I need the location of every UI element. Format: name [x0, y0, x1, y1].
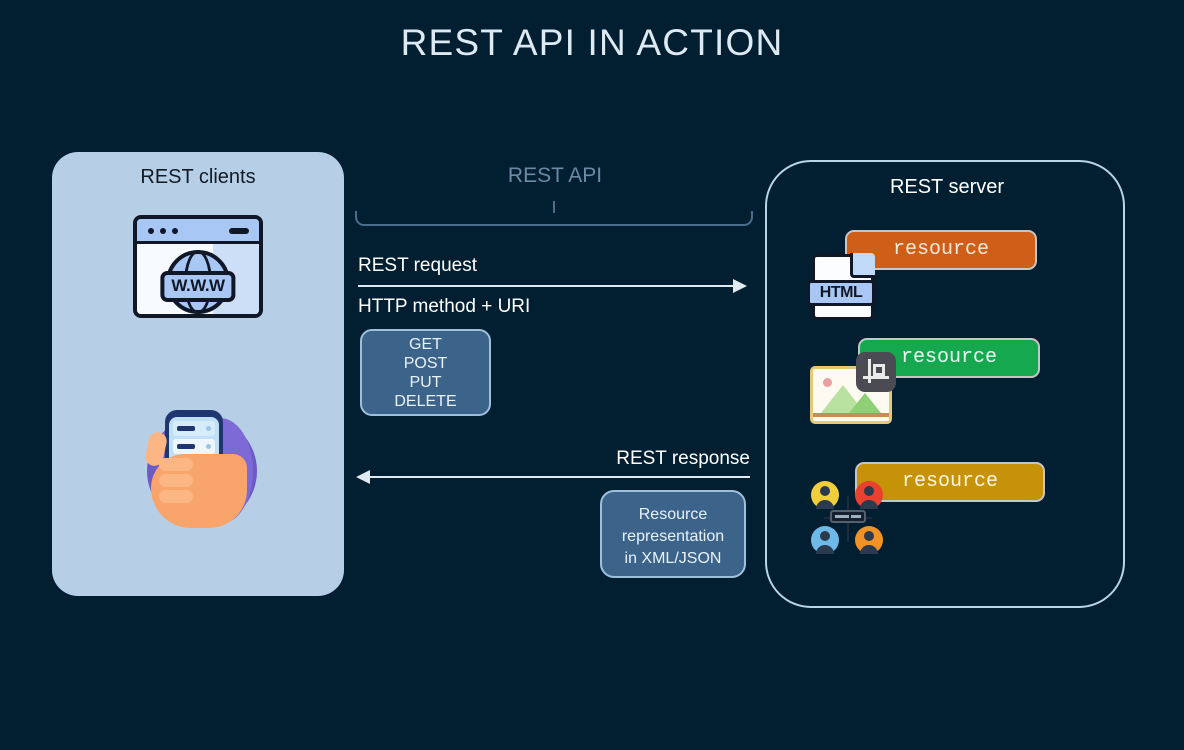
- crop-square: [873, 364, 885, 376]
- crop-tool-icon: [856, 352, 896, 392]
- rest-clients-panel: REST clients W.W.W: [52, 152, 344, 596]
- image-ground: [813, 413, 889, 417]
- users-network-icon: [810, 480, 886, 556]
- rest-response-arrow: [358, 476, 750, 478]
- resource-rep-line-2: representation: [602, 526, 744, 548]
- browser-window-icon: W.W.W: [133, 215, 263, 318]
- rest-clients-title: REST clients: [52, 166, 344, 189]
- resource-representation-box: Resource representation in XML/JSON: [600, 490, 746, 578]
- rest-server-title: REST server: [767, 176, 1127, 199]
- resource-rep-line-1: Resource: [602, 504, 744, 526]
- finger: [159, 458, 193, 471]
- rest-request-arrow: [358, 285, 745, 287]
- browser-dot-icon: [172, 228, 178, 234]
- http-methods-box: GET POST PUT DELETE: [360, 329, 491, 416]
- html-file-label: HTML: [807, 280, 875, 306]
- crop-horizontal-bar: [863, 376, 889, 379]
- browser-dash-icon: [229, 228, 249, 234]
- image-mountain: [849, 393, 881, 413]
- rest-api-bracket: [355, 211, 753, 226]
- rest-api-bracket-tick: [553, 201, 555, 213]
- chat-row: [173, 421, 215, 436]
- rest-response-label: REST response: [470, 448, 750, 470]
- user-avatar: [855, 481, 883, 509]
- browser-dot-icon: [160, 228, 166, 234]
- www-label: W.W.W: [160, 271, 235, 302]
- chat-row: [173, 439, 215, 454]
- finger: [159, 474, 193, 487]
- network-server-icon: [830, 510, 866, 523]
- http-method-delete: DELETE: [362, 392, 489, 411]
- html-file-icon: HTML: [812, 254, 874, 320]
- hand-holding-phone-icon: [135, 406, 261, 532]
- browser-titlebar: [137, 219, 259, 244]
- http-method-uri-label: HTTP method + URI: [358, 296, 530, 318]
- rest-api-label: REST API: [455, 164, 655, 188]
- browser-dot-icon: [148, 228, 154, 234]
- page-title: REST API IN ACTION: [0, 22, 1184, 64]
- file-fold-corner: [850, 253, 875, 278]
- crop-vertical-bar: [868, 359, 871, 383]
- rest-request-label: REST request: [358, 255, 477, 277]
- image-crop-icon: [810, 366, 892, 424]
- diagram-canvas: REST API IN ACTION REST clients W.W.W: [0, 0, 1184, 750]
- user-avatar: [811, 526, 839, 554]
- resource-rep-line-3: in XML/JSON: [602, 548, 744, 570]
- http-method-get: GET: [362, 335, 489, 354]
- finger: [159, 490, 193, 503]
- hand-shape: [151, 454, 247, 528]
- user-avatar: [811, 481, 839, 509]
- user-avatar: [855, 526, 883, 554]
- http-method-put: PUT: [362, 373, 489, 392]
- http-method-post: POST: [362, 354, 489, 373]
